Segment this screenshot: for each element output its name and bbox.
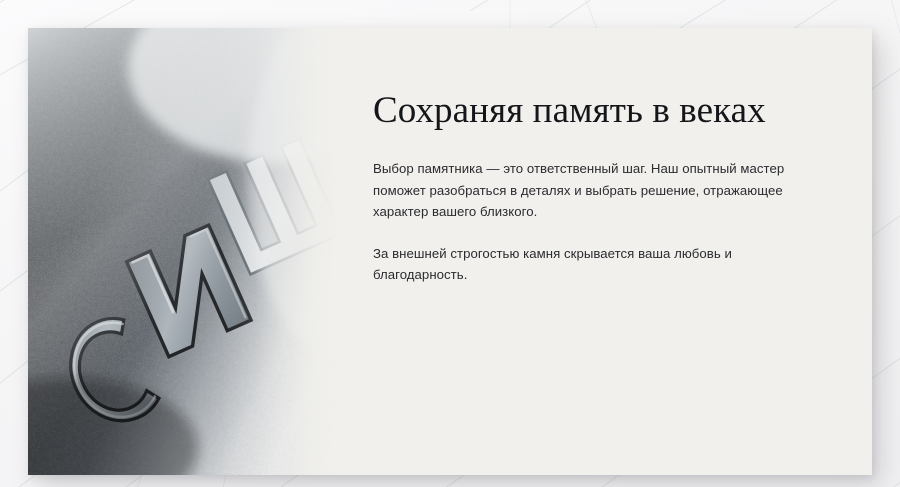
paragraph-intro: Выбор памятника — это ответственный шаг.… [373, 158, 818, 222]
monument-photo [28, 28, 340, 475]
page-title: Сохраняя память в веках [373, 90, 818, 131]
paragraph-closing: За внешней строгостью камня скрывается в… [373, 243, 818, 286]
hero-card: Сохраняя память в веках Выбор памятника … [28, 28, 872, 475]
body-copy: Выбор памятника — это ответственный шаг.… [373, 158, 818, 285]
card-content: Сохраняя память в веках Выбор памятника … [340, 28, 872, 475]
monument-photo-canvas [28, 28, 340, 475]
